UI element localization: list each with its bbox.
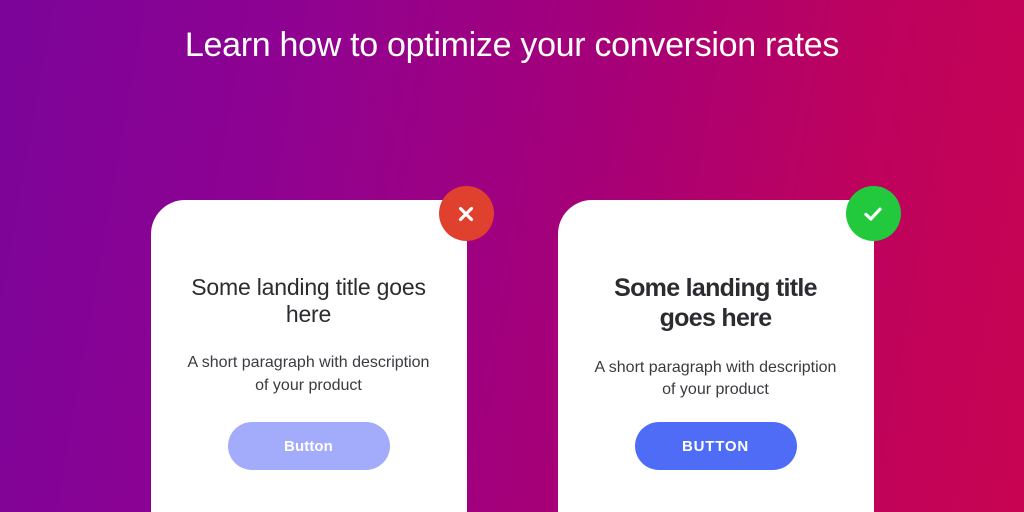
landing-preview-bad: Some landing title goes here A short par… [151,200,467,512]
comparison-cards: Some landing title goes here A short par… [0,200,1024,512]
cross-badge [439,186,494,241]
cta-button-weak[interactable]: Button [228,422,390,470]
cta-button-strong[interactable]: BUTTON [635,422,797,470]
check-icon [860,201,886,227]
card-description: A short paragraph with description of yo… [181,352,437,397]
check-badge [846,186,901,241]
card-title: Some landing title goes here [588,274,844,333]
card-bad-example: Some landing title goes here A short par… [151,200,467,512]
page-headline: Learn how to optimize your conversion ra… [0,26,1024,64]
card-title: Some landing title goes here [181,274,437,328]
cross-icon [454,202,478,226]
landing-preview-good: Some landing title goes here A short par… [558,200,874,512]
card-description: A short paragraph with description of yo… [588,357,844,402]
card-good-example: Some landing title goes here A short par… [558,200,874,512]
